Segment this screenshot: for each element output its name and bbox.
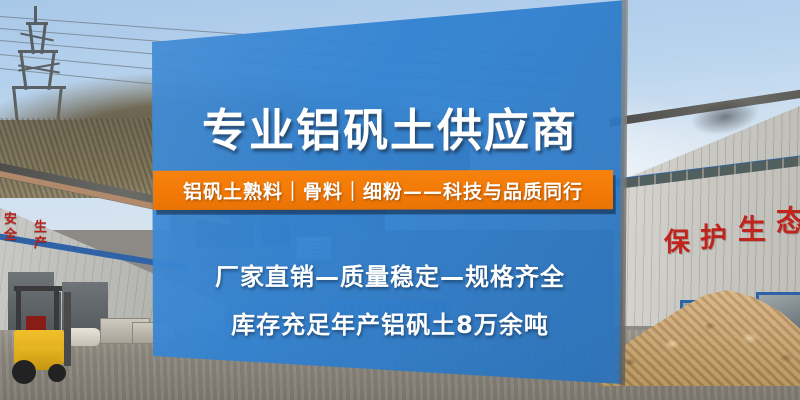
right-building-sign-char: 护 xyxy=(700,216,727,255)
left-building-sign-char: 产 xyxy=(34,232,47,251)
subtitle-line-1: 厂家直销—质量稳定—规格齐全 xyxy=(152,257,628,292)
right-building-sign-char: 保 xyxy=(664,222,690,259)
banner-title: 专业铝矾土供应商 xyxy=(152,94,628,159)
right-building-sign-char: 态 xyxy=(776,198,800,240)
tagline-ribbon-wrap: 铝矾土熟料｜骨料｜细粉——科技与品质同行 xyxy=(153,170,615,213)
tagline-text: 铝矾土熟料｜骨料｜细粉——科技与品质同行 xyxy=(183,177,583,204)
left-building-sign-char: 全 xyxy=(4,224,17,243)
subtitle-line-2: 库存充足年产铝矾土8万余吨 xyxy=(152,305,628,340)
right-building-sign-char: 生 xyxy=(738,208,766,248)
hero-banner: 安 全 生 产 保 护 生 态 xyxy=(0,0,800,400)
forklift xyxy=(6,286,78,390)
banner-content: 专业铝矾土供应商 铝矾土熟料｜骨料｜细粉——科技与品质同行 厂家直销—质量稳定—… xyxy=(152,26,628,386)
tagline-ribbon: 铝矾土熟料｜骨料｜细粉——科技与品质同行 xyxy=(153,170,613,210)
